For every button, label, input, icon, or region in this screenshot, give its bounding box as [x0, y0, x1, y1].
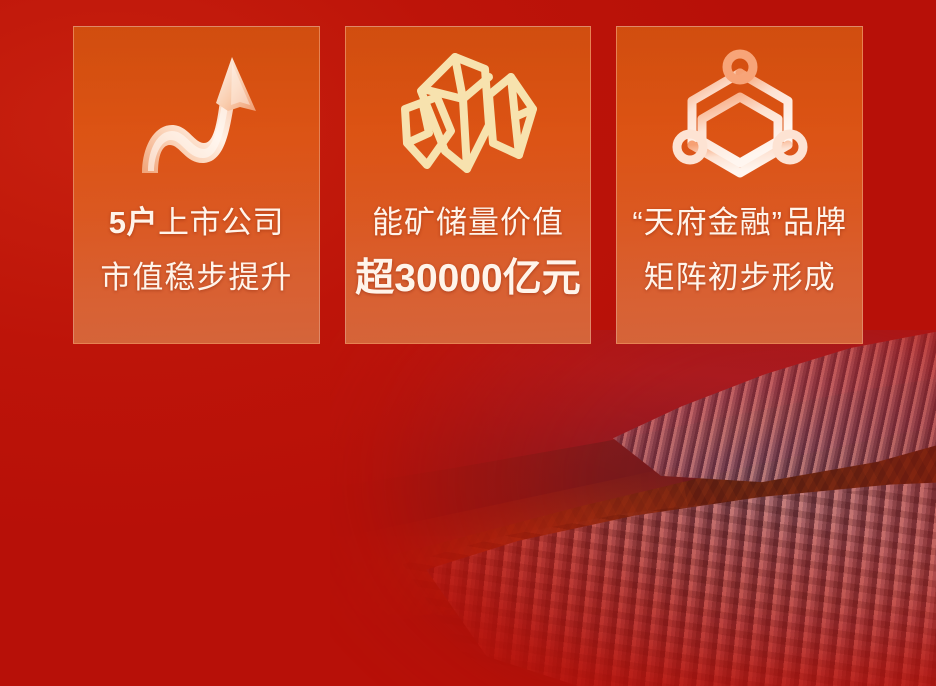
card-line-secondary: 矩阵初步形成 [644, 262, 836, 293]
card-line-primary: “天府金融”品牌 [632, 207, 847, 238]
stat-card-mineral-reserves[interactable]: 能矿储量价值 超30000亿元 [345, 26, 592, 344]
poster-root: 5户上市公司 市值稳步提升 [0, 0, 936, 686]
card-line-primary-rest: 上市公司 [158, 205, 284, 240]
card-line-primary-rest: “天府金融”品牌 [632, 205, 847, 240]
stat-card-tianfu-finance-brand[interactable]: “天府金融”品牌 矩阵初步形成 [616, 26, 863, 344]
stat-card-listed-companies[interactable]: 5户上市公司 市值稳步提升 [73, 26, 320, 344]
solar-farm-photo [330, 330, 936, 686]
card-line-secondary: 市值稳步提升 [100, 262, 292, 293]
rising-arrow-icon [74, 27, 319, 207]
card-text-block: 能矿储量价值 超30000亿元 [346, 207, 591, 298]
card-line-secondary: 超30000亿元 [355, 259, 580, 298]
card-text-block: “天府金融”品牌 矩阵初步形成 [617, 207, 862, 293]
hexagon-network-icon [617, 27, 862, 207]
card-line-primary: 能矿储量价值 [372, 207, 564, 238]
stat-card-row: 5户上市公司 市值稳步提升 [73, 26, 863, 344]
card-text-block: 5户上市公司 市值稳步提升 [74, 207, 319, 293]
card-line-primary-rest: 能矿储量价值 [372, 205, 564, 240]
photo-red-fade-tint [330, 330, 936, 686]
card-line-primary: 5户上市公司 [109, 207, 284, 238]
crystal-ore-icon [346, 27, 591, 207]
card-line-primary-bold: 5户 [109, 205, 158, 240]
